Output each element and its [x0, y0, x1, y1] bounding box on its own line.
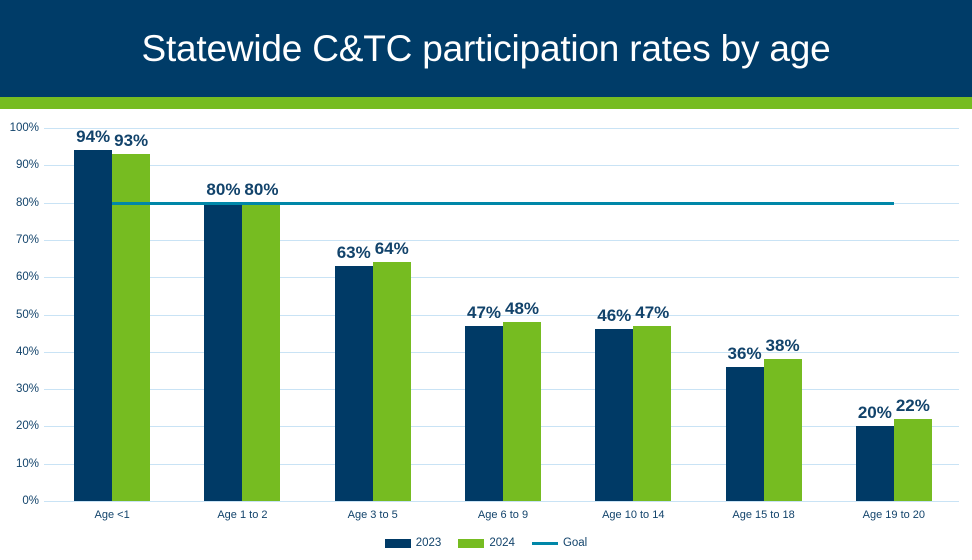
y-axis-tick-label: 100%	[3, 122, 39, 134]
bar-2023-age-15-to-18[interactable]	[726, 367, 764, 501]
y-axis-tick-label: 30%	[3, 383, 39, 395]
bar-2023-age-10-to-14[interactable]	[595, 329, 633, 501]
gridline	[44, 501, 959, 502]
y-axis-tick-label: 0%	[3, 495, 39, 507]
data-label-2023-age-1: 94%	[76, 127, 110, 147]
x-axis-tick-label: Age 1 to 2	[217, 509, 267, 521]
y-axis-tick-label: 10%	[3, 458, 39, 470]
gridline	[44, 165, 959, 166]
gridline	[44, 315, 959, 316]
goal-reference-line	[112, 202, 894, 205]
gridline	[44, 128, 959, 129]
legend-item-goal[interactable]: Goal	[532, 537, 587, 549]
data-label-2024-age-19-to-20: 22%	[896, 396, 930, 416]
bar-2023-age-6-to-9[interactable]	[465, 326, 503, 501]
bar-2024-age-3-to-5[interactable]	[373, 262, 411, 501]
x-axis-tick-label: Age 15 to 18	[732, 509, 794, 521]
data-label-2024-age-1-to-2: 80%	[244, 180, 278, 200]
bar-chart: 0%10%20%30%40%50%60%70%80%90%100% 94%93%…	[0, 109, 972, 560]
x-axis-tick-label: Age 10 to 14	[602, 509, 664, 521]
data-label-2024-age-1: 93%	[114, 131, 148, 151]
x-axis-tick-label: Age <1	[95, 509, 130, 521]
y-axis-tick-label: 90%	[3, 159, 39, 171]
bar-2024-age-19-to-20[interactable]	[894, 419, 932, 501]
x-axis-tick-label: Age 19 to 20	[863, 509, 925, 521]
y-axis-tick-label: 80%	[3, 197, 39, 209]
bar-2023-age-19-to-20[interactable]	[856, 426, 894, 501]
legend-label: Goal	[563, 537, 587, 549]
data-label-2023-age-10-to-14: 46%	[597, 306, 631, 326]
legend-label: 2024	[489, 537, 515, 549]
legend-label: 2023	[416, 537, 442, 549]
bar-2023-age-1[interactable]	[74, 150, 112, 501]
bar-2024-age-6-to-9[interactable]	[503, 322, 541, 501]
bar-2023-age-3-to-5[interactable]	[335, 266, 373, 501]
page-title: Statewide C&TC participation rates by ag…	[0, 0, 972, 97]
bar-2024-age-1[interactable]	[112, 154, 150, 501]
data-label-2023-age-6-to-9: 47%	[467, 303, 501, 323]
y-axis-tick-label: 40%	[3, 346, 39, 358]
legend-swatch-2023-icon	[385, 539, 411, 548]
data-label-2023-age-3-to-5: 63%	[337, 243, 371, 263]
y-axis-tick-label: 60%	[3, 271, 39, 283]
chart-legend: 20232024Goal	[0, 537, 972, 549]
legend-swatch-goal-icon	[532, 542, 558, 545]
x-axis-tick-label: Age 6 to 9	[478, 509, 528, 521]
data-label-2023-age-1-to-2: 80%	[206, 180, 240, 200]
data-label-2024-age-6-to-9: 48%	[505, 299, 539, 319]
x-axis-tick-label: Age 3 to 5	[348, 509, 398, 521]
gridline	[44, 277, 959, 278]
bar-2024-age-10-to-14[interactable]	[633, 326, 671, 501]
bar-2023-age-1-to-2[interactable]	[204, 203, 242, 501]
data-label-2023-age-15-to-18: 36%	[728, 344, 762, 364]
y-axis-tick-label: 20%	[3, 420, 39, 432]
legend-item-2023[interactable]: 2023	[385, 537, 442, 549]
y-axis-tick-label: 70%	[3, 234, 39, 246]
legend-swatch-2024-icon	[458, 539, 484, 548]
gridline	[44, 240, 959, 241]
header-accent-stripe	[0, 97, 972, 109]
bar-2024-age-1-to-2[interactable]	[242, 203, 280, 501]
legend-item-2024[interactable]: 2024	[458, 537, 515, 549]
data-label-2024-age-10-to-14: 47%	[635, 303, 669, 323]
data-label-2024-age-3-to-5: 64%	[375, 239, 409, 259]
bar-2024-age-15-to-18[interactable]	[764, 359, 802, 501]
data-label-2023-age-19-to-20: 20%	[858, 403, 892, 423]
data-label-2024-age-15-to-18: 38%	[766, 336, 800, 356]
y-axis-tick-label: 50%	[3, 309, 39, 321]
